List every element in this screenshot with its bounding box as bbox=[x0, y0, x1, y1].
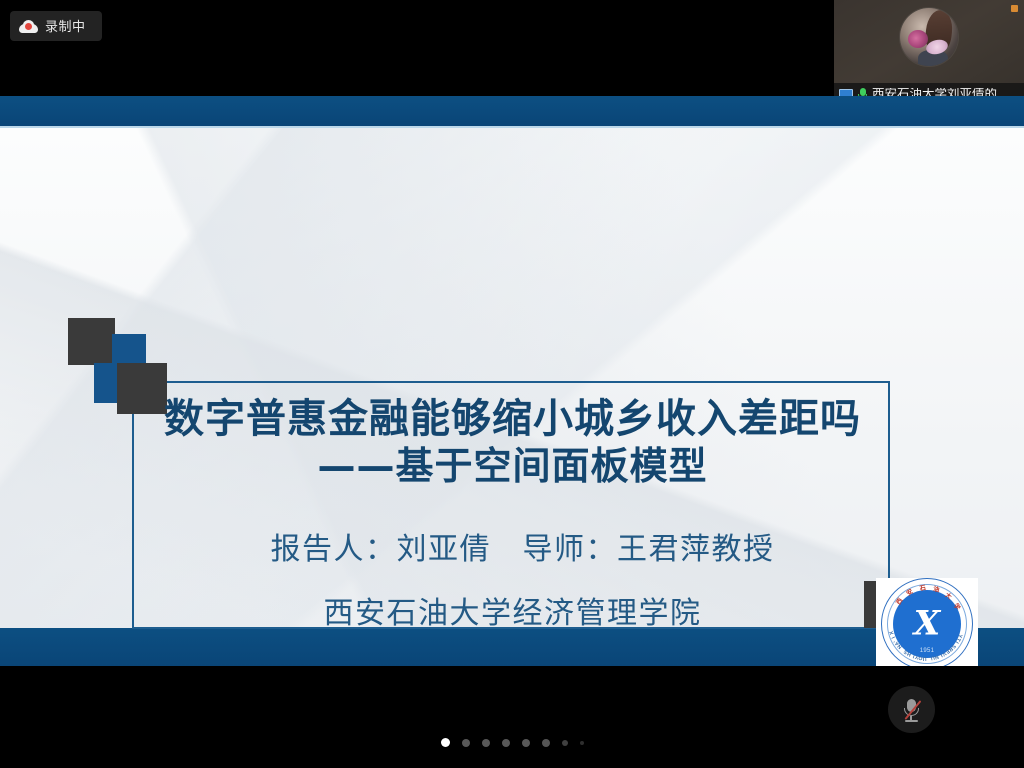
slide-affiliation: 西安石油大学经济管理学院 bbox=[160, 588, 865, 632]
page-indicator-dot[interactable] bbox=[542, 739, 550, 747]
status-dot-icon bbox=[1011, 5, 1018, 12]
logo-ring-text: XI'AN SHIYOU UNIVERSITY西安石油大学 bbox=[882, 579, 972, 666]
decoration-squares-top-left bbox=[68, 318, 174, 408]
university-logo: X 1951 XI'AN SHIYOU UNIVERSITY西安石油大学 bbox=[876, 578, 978, 666]
slide-title-line2: ——基于空间面板模型 bbox=[140, 443, 885, 489]
slide-top-band-underline bbox=[0, 126, 1024, 128]
slide-title: 数字普惠金融能够缩小城乡收入差距吗 ——基于空间面板模型 bbox=[140, 396, 885, 490]
page-indicator[interactable] bbox=[0, 738, 1024, 747]
recording-badge: 录制中 bbox=[10, 11, 102, 41]
page-indicator-dot[interactable] bbox=[441, 738, 450, 747]
page-indicator-dot[interactable] bbox=[562, 740, 568, 746]
mute-toggle-button[interactable] bbox=[888, 686, 935, 733]
slide-top-band bbox=[0, 96, 1024, 126]
microphone-muted-icon bbox=[903, 698, 920, 722]
participant-thumbnail[interactable]: 西安石油大学刘亚倩的… bbox=[834, 0, 1024, 106]
page-indicator-dot[interactable] bbox=[482, 739, 490, 747]
avatar bbox=[900, 8, 958, 66]
page-indicator-dot[interactable] bbox=[580, 741, 584, 745]
page-indicator-dot[interactable] bbox=[522, 739, 530, 747]
cloud-record-icon bbox=[19, 20, 38, 33]
zoom-meeting-window: 录制中 西安石油大学刘亚倩的… bbox=[0, 0, 1024, 768]
recording-label: 录制中 bbox=[45, 20, 86, 33]
slide-title-line1: 数字普惠金融能够缩小城乡收入差距吗 bbox=[140, 396, 885, 443]
slide-presenter-line: 报告人：刘亚倩 导师：王君萍教授 bbox=[160, 524, 885, 568]
page-indicator-dot[interactable] bbox=[502, 739, 510, 747]
page-indicator-dot[interactable] bbox=[462, 739, 470, 747]
shared-screen-slide[interactable]: 数字普惠金融能够缩小城乡收入差距吗 ——基于空间面板模型 报告人：刘亚倩 导师：… bbox=[0, 96, 1024, 666]
